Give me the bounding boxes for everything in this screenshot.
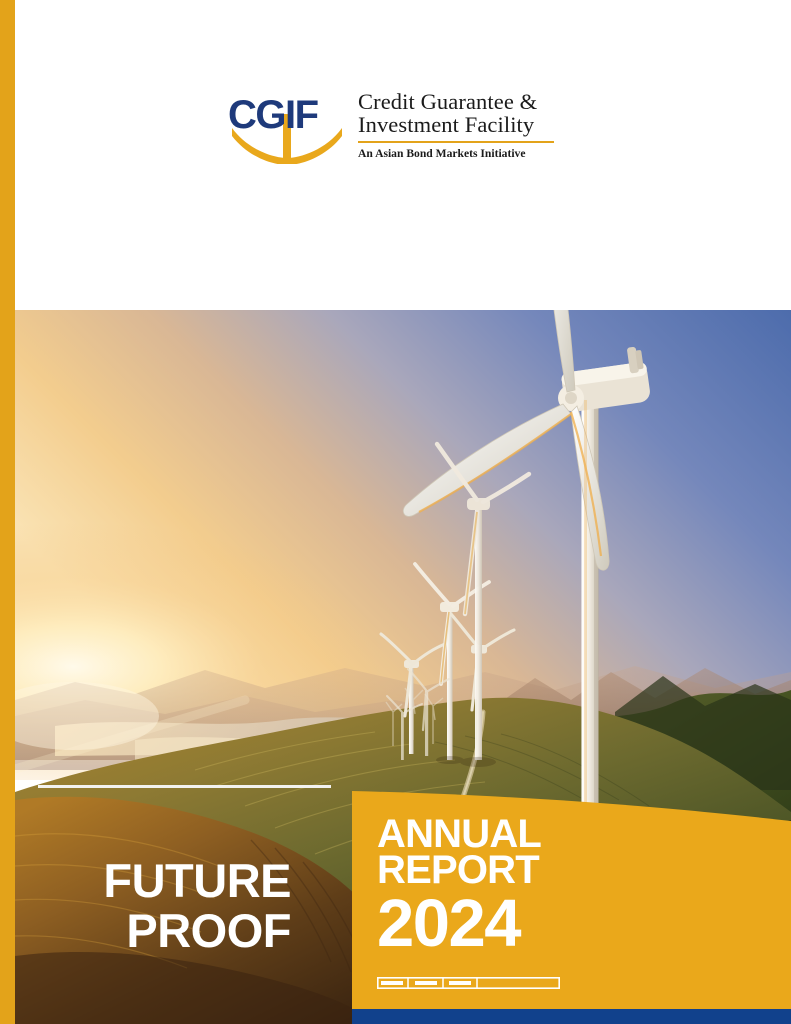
logo-title-line1: Credit Guarantee & xyxy=(358,90,554,113)
report-line2: REPORT xyxy=(377,852,541,888)
logo-text-block: Credit Guarantee & Investment Facility A… xyxy=(358,88,554,160)
annual-report-text: ANNUAL REPORT 2024 xyxy=(377,816,541,957)
tagline-line1: FUTURE xyxy=(38,856,291,906)
svg-text:CGIF: CGIF xyxy=(228,93,318,137)
cgif-logo: CGIF Credit Guarantee & Investment Facil… xyxy=(228,88,568,170)
cgif-mark-svg: CGIF xyxy=(228,88,346,164)
measure-bar-svg xyxy=(377,977,560,989)
tagline-line2: PROOF xyxy=(38,906,291,956)
logo-title-line2: Investment Facility xyxy=(358,113,554,136)
left-gold-spine xyxy=(0,0,15,1024)
logo-divider-rule xyxy=(358,141,554,143)
segmented-measure-bar-icon xyxy=(377,977,560,989)
logo-subtitle: An Asian Bond Markets Initiative xyxy=(358,147,554,160)
footer-navy-strip xyxy=(352,1009,791,1024)
tagline-rule xyxy=(38,785,331,788)
report-cover: CGIF Credit Guarantee & Investment Facil… xyxy=(0,0,791,1024)
report-line1: ANNUAL xyxy=(377,816,541,852)
cover-tagline: FUTURE PROOF xyxy=(38,856,291,956)
report-year: 2024 xyxy=(377,891,541,957)
cgif-anchor-logo-icon: CGIF xyxy=(228,88,346,164)
